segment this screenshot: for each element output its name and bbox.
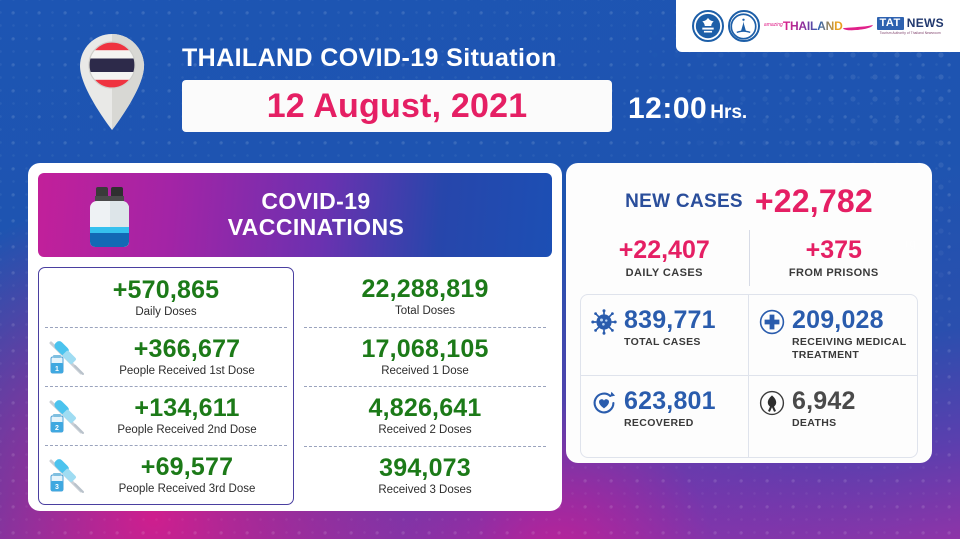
tat-news-logo: TAT NEWS Tourism Authority of Thailand N… <box>877 17 944 35</box>
vaccinations-total-column: 22,288,819 Total Doses 17,068,105 Receiv… <box>294 267 552 505</box>
svg-text:3: 3 <box>55 484 59 491</box>
recovered-value: 623,801 <box>624 388 742 414</box>
table-row: 394,073 Received 3 Doses <box>298 446 552 506</box>
report-time: 12:00 Hrs. <box>628 92 747 126</box>
logo-strip: amazing THAILAND TAT NEWS Tourism Author… <box>676 0 960 52</box>
cases-card: NEW CASES +22,782 +22,407 DAILY CASES +3… <box>566 163 932 463</box>
syringe-dose-2-icon: 2 <box>45 395 87 437</box>
total-cases-label: TOTAL CASES <box>624 336 742 349</box>
new-cases-breakdown: +22,407 DAILY CASES +375 FROM PRISONS <box>580 230 918 286</box>
from-prisons-label: FROM PRISONS <box>789 267 879 279</box>
dose3-daily-label: People Received 3rd Dose <box>87 483 287 495</box>
deaths-value: 6,942 <box>792 388 911 414</box>
stats-grid: 839,771 TOTAL CASES 209,028 RECEIVING ME… <box>580 294 918 458</box>
dose1-total-label: Received 1 Dose <box>304 365 546 377</box>
coronavirus-icon <box>591 309 617 335</box>
vaccinations-title-line1: COVID-19 <box>228 189 404 215</box>
table-row: 17,068,105 Received 1 Dose <box>298 327 552 387</box>
news-wordmark: NEWS <box>907 17 944 29</box>
table-row: 1 +366,677 People Received 1st Dose <box>39 327 293 386</box>
tat-wordmark: TAT <box>877 17 904 30</box>
vaccinations-card-header: COVID-19 VACCINATIONS <box>38 173 552 257</box>
daily-doses-label: Daily Doses <box>45 306 287 318</box>
new-cases-value: +22,782 <box>755 183 873 220</box>
recovery-heart-icon <box>591 390 617 416</box>
table-row: 4,826,641 Received 2 Doses <box>298 386 552 446</box>
table-row: +570,865 Daily Doses <box>39 268 293 327</box>
dose2-total-label: Received 2 Doses <box>304 424 546 436</box>
dose3-total-value: 394,073 <box>304 455 546 482</box>
dose2-total-value: 4,826,641 <box>304 395 546 422</box>
table-row: 3 +69,577 People Received 3rd Dose <box>39 445 293 504</box>
amazing-thailand-logo: amazing THAILAND <box>764 20 873 32</box>
tat-news-tagline: Tourism Authority of Thailand Newsroom <box>880 32 941 35</box>
syringe-dose-1-icon: 1 <box>45 336 87 378</box>
infographic-canvas: THAILAND COVID-19 Situation 12 August, 2… <box>0 0 960 539</box>
mourning-ribbon-icon <box>759 390 785 416</box>
medical-cross-icon <box>759 309 785 335</box>
table-row: 2 +134,611 People Received 2nd Dose <box>39 386 293 445</box>
stat-receiving-treatment: 209,028 RECEIVING MEDICAL TREATMENT <box>749 295 917 376</box>
watermark-text: rg <box>905 236 916 250</box>
recovered-label: RECOVERED <box>624 417 742 430</box>
receiving-treatment-label: RECEIVING MEDICAL TREATMENT <box>792 336 911 362</box>
ministry-of-public-health-logo <box>692 10 724 42</box>
vaccine-bottle-icon <box>82 185 138 249</box>
amazing-thailand-wordmark: THAILAND <box>783 20 843 32</box>
svg-text:1: 1 <box>55 366 59 373</box>
vaccinations-daily-column: +570,865 Daily Doses <box>38 267 294 505</box>
dose3-total-label: Received 3 Doses <box>304 484 546 496</box>
daily-cases-value: +22,407 <box>619 237 710 265</box>
deaths-label: DEATHS <box>792 417 911 430</box>
new-cases-label: NEW CASES <box>625 191 743 213</box>
dose1-total-value: 17,068,105 <box>304 336 546 363</box>
department-of-disease-control-logo <box>728 10 760 42</box>
receiving-treatment-value: 209,028 <box>792 307 911 333</box>
from-prisons-value: +375 <box>806 237 862 265</box>
amazing-thailand-tagline: amazing <box>764 23 783 28</box>
vaccinations-grid: +570,865 Daily Doses <box>38 267 552 505</box>
date-text: 12 August, 2021 <box>267 87 528 126</box>
table-row: 22,288,819 Total Doses <box>298 267 552 327</box>
from-prisons-cell: +375 FROM PRISONS <box>749 230 919 286</box>
daily-cases-label: DAILY CASES <box>626 267 703 279</box>
total-doses-label: Total Doses <box>304 305 546 317</box>
total-doses-value: 22,288,819 <box>304 276 546 303</box>
dose3-daily-value: +69,577 <box>87 454 287 481</box>
stat-total-cases: 839,771 TOTAL CASES <box>581 295 749 376</box>
stat-recovered: 623,801 RECOVERED <box>581 376 749 457</box>
daily-doses-value: +570,865 <box>45 277 287 304</box>
vaccinations-title: COVID-19 VACCINATIONS <box>186 189 404 241</box>
page-title: THAILAND COVID-19 Situation <box>182 44 557 73</box>
total-cases-value: 839,771 <box>624 307 742 333</box>
dose1-daily-label: People Received 1st Dose <box>87 365 287 377</box>
vaccinations-title-line2: VACCINATIONS <box>228 215 404 241</box>
new-cases-row: NEW CASES +22,782 <box>580 183 918 220</box>
amazing-thailand-swoosh-icon <box>842 22 872 31</box>
dose1-daily-value: +366,677 <box>87 336 287 363</box>
daily-cases-cell: +22,407 DAILY CASES <box>580 230 749 286</box>
vaccinations-card: COVID-19 VACCINATIONS +570,865 Daily Dos… <box>28 163 562 511</box>
stat-deaths: 6,942 DEATHS <box>749 376 917 457</box>
date-banner: 12 August, 2021 <box>182 80 612 132</box>
syringe-dose-3-icon: 3 <box>45 454 87 496</box>
dose2-daily-label: People Received 2nd Dose <box>87 424 287 436</box>
dose2-daily-value: +134,611 <box>87 395 287 422</box>
time-unit: Hrs. <box>710 102 747 124</box>
thailand-flag-map-pin-icon <box>76 32 148 132</box>
svg-text:2: 2 <box>55 425 59 432</box>
time-value: 12:00 <box>628 92 707 126</box>
